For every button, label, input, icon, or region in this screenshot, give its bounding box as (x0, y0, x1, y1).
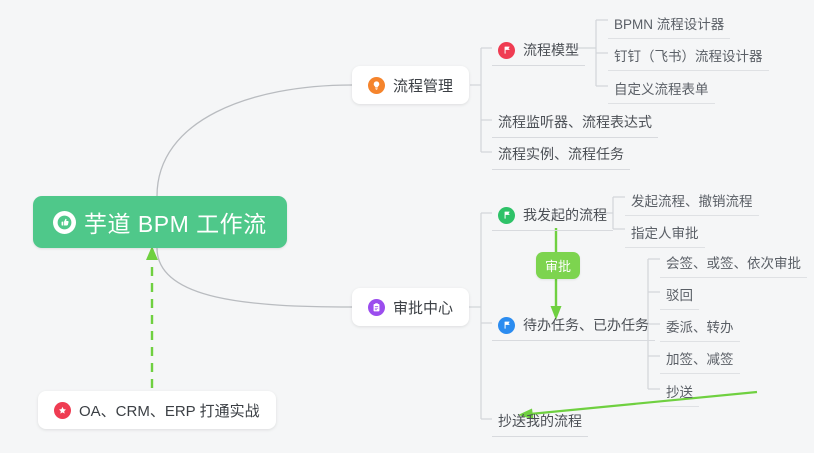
leaf-label: 指定人审批 (631, 222, 699, 242)
leaf-node[interactable]: 加签、减签 (660, 345, 740, 374)
thumbs-up-icon (53, 211, 76, 234)
leaf-node[interactable]: 指定人审批 (625, 219, 705, 248)
leaf-node[interactable]: 委派、转办 (660, 313, 740, 342)
sub-node-listener-expression[interactable]: 流程监听器、流程表达式 (492, 109, 658, 138)
integration-dashed-arrow (146, 246, 158, 388)
leaf-node[interactable]: 驳回 (660, 281, 699, 310)
floating-note-integration[interactable]: OA、CRM、ERP 打通实战 (38, 391, 276, 429)
flag-icon (498, 42, 515, 59)
mindmap-canvas[interactable]: 芋道 BPM 工作流 流程管理 流程模型 BPMN 流程设计器 钉钉（飞书）流程… (0, 0, 814, 453)
leaf-node[interactable]: 发起流程、撤销流程 (625, 187, 759, 216)
leaf-label: 委派、转办 (666, 316, 734, 336)
leaf-label: 会签、或签、依次审批 (666, 252, 801, 272)
root-node[interactable]: 芋道 BPM 工作流 (33, 196, 287, 248)
branch-label: 审批中心 (393, 297, 453, 318)
sub-node-label: 抄送我的流程 (498, 411, 582, 431)
leaf-node[interactable]: 自定义流程表单 (608, 75, 715, 104)
sub-node-label: 待办任务、已办任务 (523, 315, 649, 335)
leaf-label: 钉钉（飞书）流程设计器 (614, 45, 763, 65)
sub-node-label: 流程实例、流程任务 (498, 144, 624, 164)
star-icon (54, 402, 71, 419)
sub-node-my-started-processes[interactable]: 我发起的流程 (492, 202, 613, 231)
branch-label: 流程管理 (393, 75, 453, 96)
sub-node-todo-done-tasks[interactable]: 待办任务、已办任务 (492, 312, 655, 341)
sub-node-cc-to-me[interactable]: 抄送我的流程 (492, 408, 588, 437)
sub-node-process-model[interactable]: 流程模型 (492, 37, 585, 66)
leaf-label: 自定义流程表单 (614, 78, 709, 98)
lightbulb-icon (368, 77, 385, 94)
root-label: 芋道 BPM 工作流 (84, 205, 267, 239)
leaf-label: 抄送 (666, 381, 693, 401)
sub-node-label: 流程模型 (523, 40, 579, 60)
approval-arrow-label-text: 审批 (545, 259, 571, 274)
leaf-label: 发起流程、撤销流程 (631, 190, 753, 210)
leaf-label: BPMN 流程设计器 (614, 13, 724, 33)
leaf-node[interactable]: 抄送 (660, 378, 699, 407)
floating-note-label: OA、CRM、ERP 打通实战 (79, 400, 260, 421)
leaf-label: 驳回 (666, 284, 693, 304)
leaf-node[interactable]: 钉钉（飞书）流程设计器 (608, 42, 769, 71)
leaf-node[interactable]: 会签、或签、依次审批 (660, 249, 807, 278)
leaf-label: 加签、减签 (666, 348, 734, 368)
branch-node-approval-center[interactable]: 审批中心 (352, 288, 469, 326)
approval-arrow-label: 审批 (536, 252, 580, 279)
flag-icon (498, 207, 515, 224)
sub-node-instance-task[interactable]: 流程实例、流程任务 (492, 141, 630, 170)
leaf-node[interactable]: BPMN 流程设计器 (608, 10, 730, 39)
sub-node-label: 流程监听器、流程表达式 (498, 112, 652, 132)
flag-icon (498, 317, 515, 334)
branch-node-process-management[interactable]: 流程管理 (352, 66, 469, 104)
clipboard-icon (368, 299, 385, 316)
sub-node-label: 我发起的流程 (523, 205, 607, 225)
